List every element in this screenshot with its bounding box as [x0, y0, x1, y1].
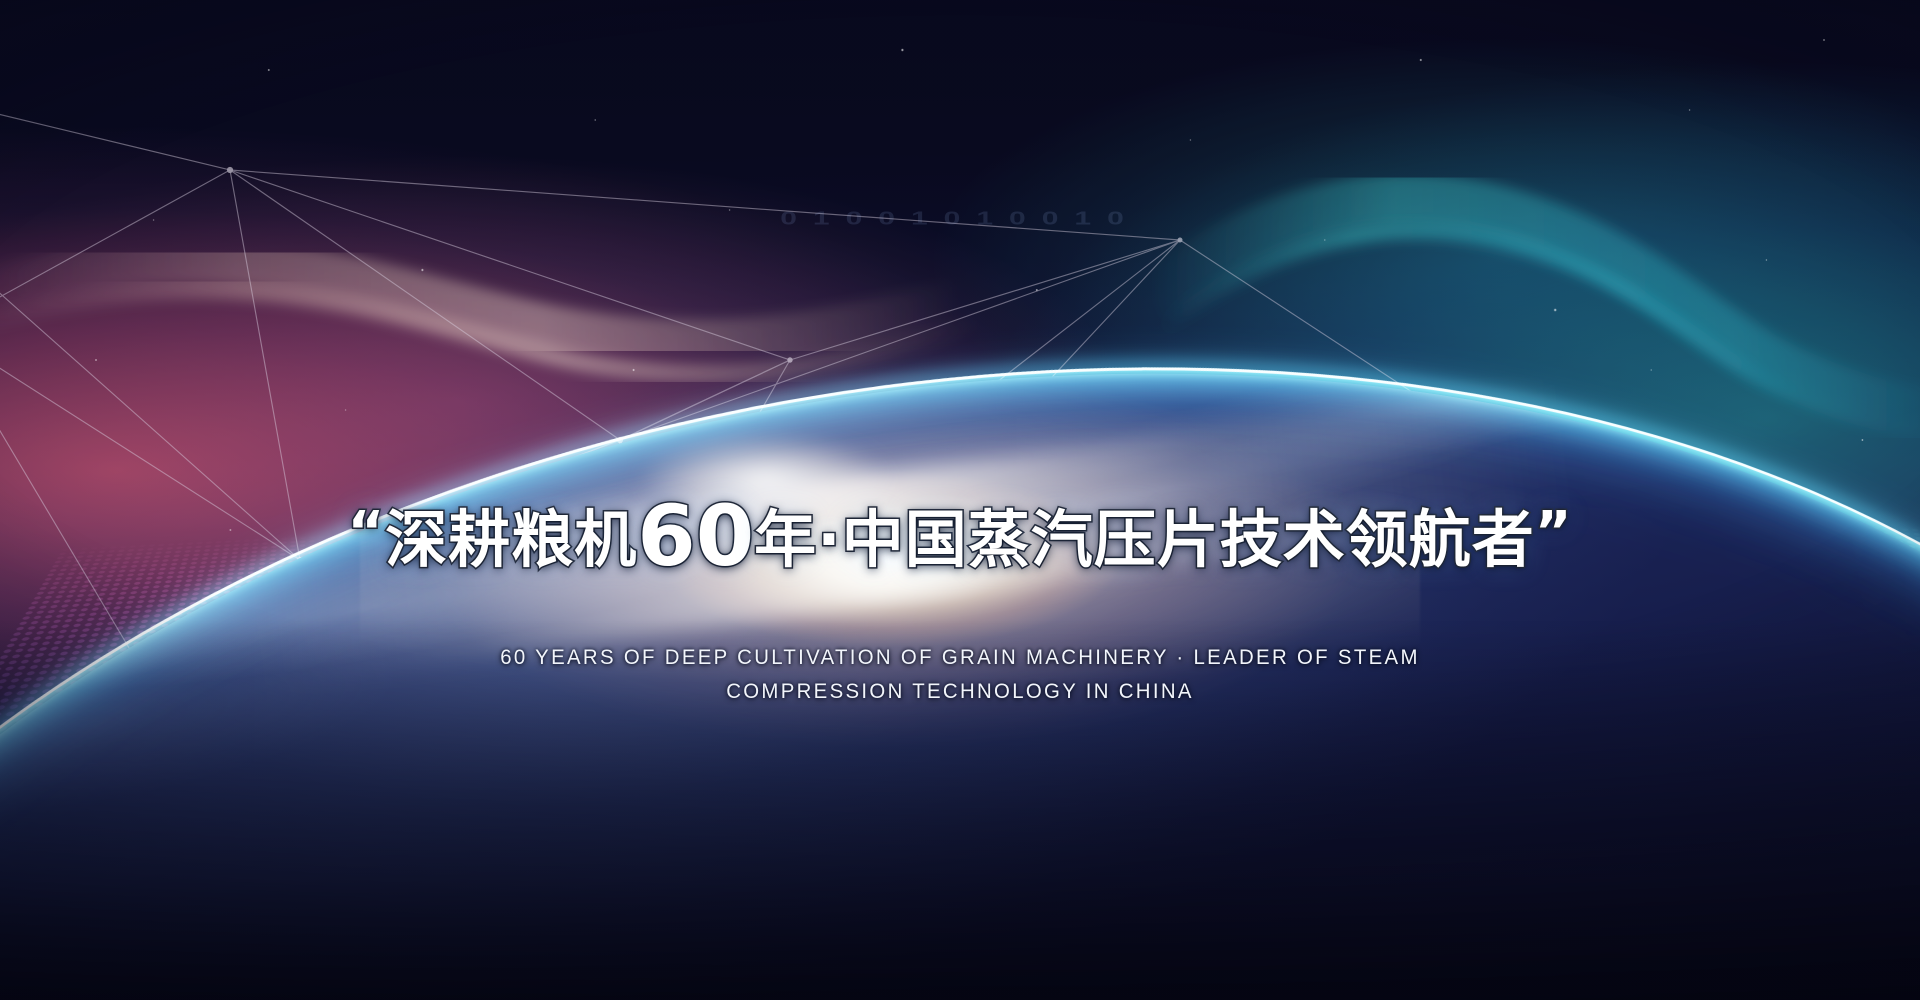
title-open-quote: “	[347, 500, 385, 565]
binary-ghost-text: 01001010010	[0, 205, 1920, 234]
subtitle-line-1: 60 YEARS OF DEEP CULTIVATION OF GRAIN MA…	[29, 641, 1891, 675]
title-close-quote: ”	[1535, 500, 1573, 565]
title-anniversary-number: 60	[637, 487, 754, 585]
title-part-two: 年·中国蒸汽压片技术领航者	[754, 503, 1535, 576]
subtitle-line-2: COMPRESSION TECHNOLOGY IN CHINA	[29, 675, 1891, 709]
page-title: “深耕粮机60年·中国蒸汽压片技术领航者”	[347, 494, 1572, 578]
headline-block: “深耕粮机60年·中国蒸汽压片技术领航者” 60 YEARS OF DEEP C…	[0, 452, 1920, 709]
page-subtitle: 60 YEARS OF DEEP CULTIVATION OF GRAIN MA…	[29, 641, 1891, 709]
title-part-one: 深耕粮机	[385, 503, 637, 576]
hero-banner: 01001010010 “深耕粮机60年·中国蒸汽压片技术领航者” 60 YEA…	[0, 0, 1920, 1000]
